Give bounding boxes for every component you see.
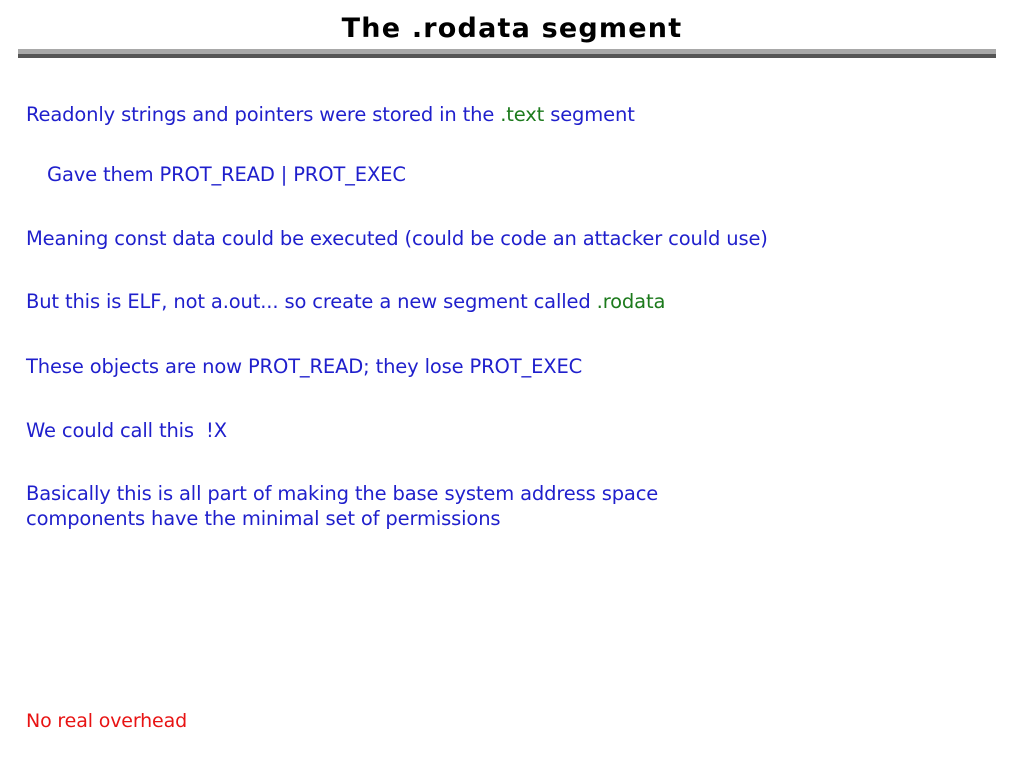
title-divider-shadow <box>18 54 996 58</box>
bullet-line-4-accent-text: .rodata <box>597 290 666 313</box>
title-divider <box>18 49 996 58</box>
footer-note: No real overhead <box>26 710 187 732</box>
bullet-line-5: These objects are now PROT_READ; they lo… <box>26 353 582 380</box>
bullet-line-1-text-before: Readonly strings and pointers were store… <box>26 103 500 126</box>
bullet-line-1: Readonly strings and pointers were store… <box>26 101 635 128</box>
page-title-text: The .rodata segment <box>342 13 683 44</box>
page-title: The .rodata segment <box>0 13 1024 44</box>
bullet-line-3: Meaning const data could be executed (co… <box>26 225 768 252</box>
bullet-line-4: But this is ELF, not a.out... so create … <box>26 288 665 315</box>
bullet-line-6: We could call this !X <box>26 417 227 444</box>
bullet-line-2: Gave them PROT_READ | PROT_EXEC <box>47 161 406 188</box>
bullet-line-4-text-before: But this is ELF, not a.out... so create … <box>26 290 597 313</box>
bullet-line-1-text-after: segment <box>544 103 635 126</box>
bullet-line-1-accent-text: .text <box>500 103 544 126</box>
slide-canvas: The .rodata segment Readonly strings and… <box>0 0 1024 768</box>
bullet-line-7: Basically this is all part of making the… <box>26 481 766 531</box>
